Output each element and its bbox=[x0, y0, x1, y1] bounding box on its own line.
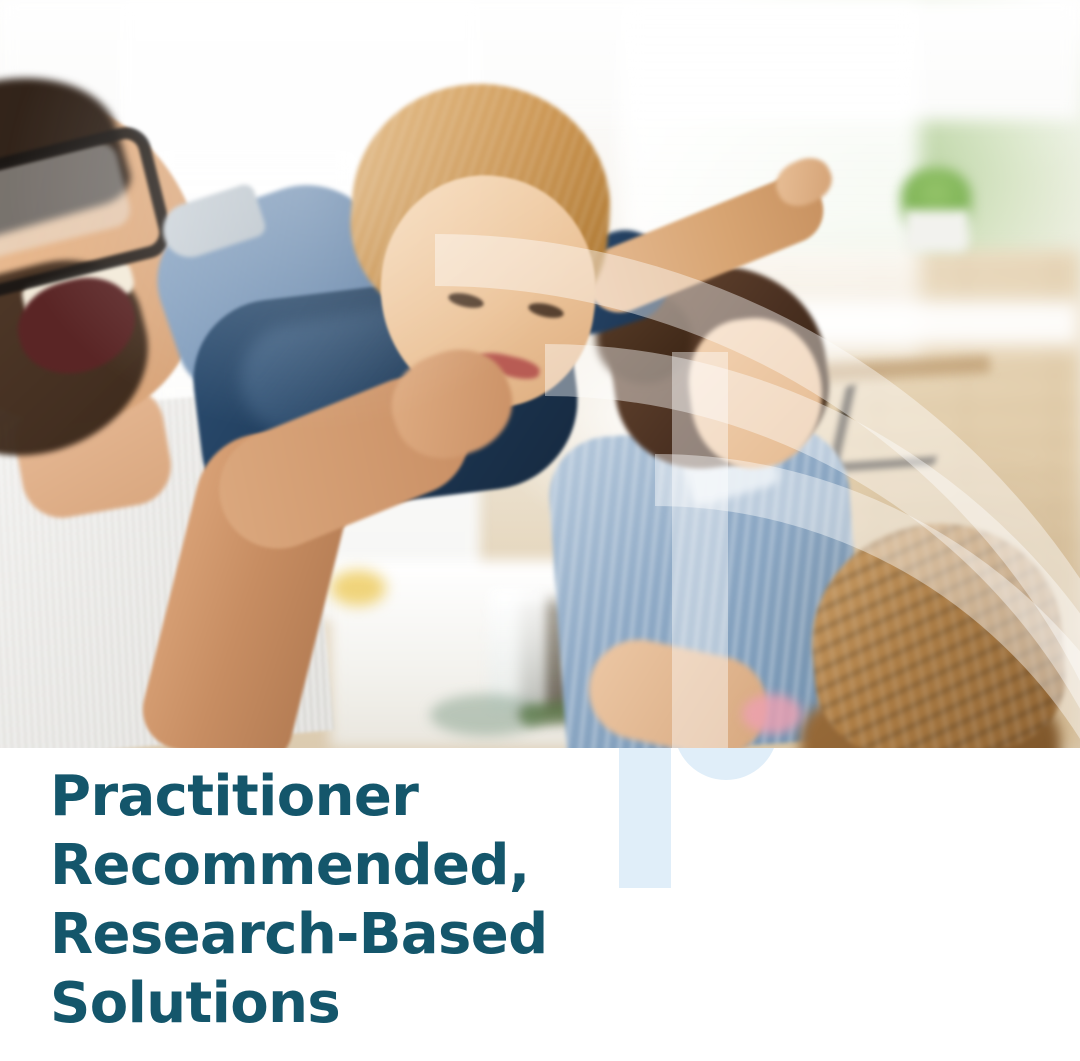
shelf-bracket bbox=[828, 378, 954, 472]
headline-panel: Practitioner Recommended, Research-Based… bbox=[0, 748, 1080, 1061]
hero-photo bbox=[0, 0, 1080, 748]
promo-card: Practitioner Recommended, Research-Based… bbox=[0, 0, 1080, 1061]
pink-object bbox=[742, 694, 802, 734]
counter-yellow-item bbox=[330, 570, 386, 606]
potted-plant-pot bbox=[905, 210, 969, 252]
page-title: Practitioner Recommended, Research-Based… bbox=[50, 762, 670, 1038]
counter-glass bbox=[488, 588, 546, 710]
